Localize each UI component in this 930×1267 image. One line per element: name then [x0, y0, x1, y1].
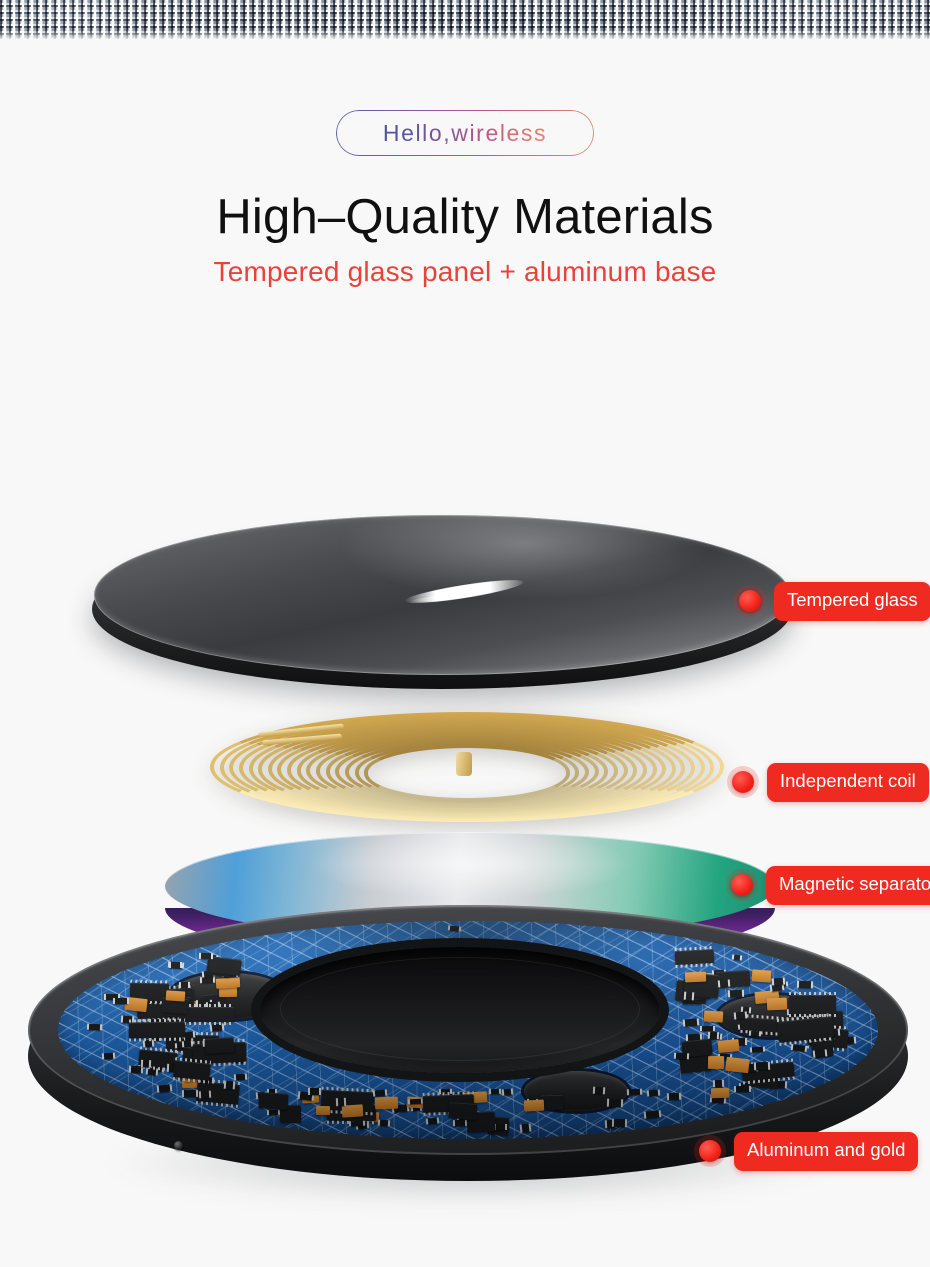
coil-center-tab	[456, 752, 472, 776]
coil-lead-wires	[258, 718, 358, 748]
callout-magnetic-separator[interactable]: Magnetic separator	[731, 866, 930, 905]
callout-label: Independent coil	[767, 763, 929, 802]
coil-layer	[210, 712, 724, 822]
status-led-indicator	[174, 1141, 183, 1150]
callout-tempered-glass[interactable]: Tempered glass	[739, 582, 930, 621]
product-infographic-page: Hello,wireless High–Quality Materials Te…	[0, 0, 930, 1267]
callout-aluminum-gold[interactable]: Aluminum and gold	[699, 1132, 918, 1171]
callout-dot-icon	[731, 874, 753, 896]
callout-independent-coil[interactable]: Independent coil	[732, 763, 929, 802]
callout-dot-icon	[739, 590, 761, 612]
cavity-inner-ring	[280, 957, 640, 1061]
callout-label: Tempered glass	[774, 582, 930, 621]
callout-label: Magnetic separator	[766, 866, 930, 905]
tempered-glass-layer	[92, 515, 792, 695]
callout-dot-icon	[732, 771, 754, 793]
callout-label: Aluminum and gold	[734, 1132, 918, 1171]
exploded-product-illustration: Tempered glass Independent coil Magnetic…	[0, 0, 930, 1267]
callout-dot-icon	[699, 1140, 721, 1162]
